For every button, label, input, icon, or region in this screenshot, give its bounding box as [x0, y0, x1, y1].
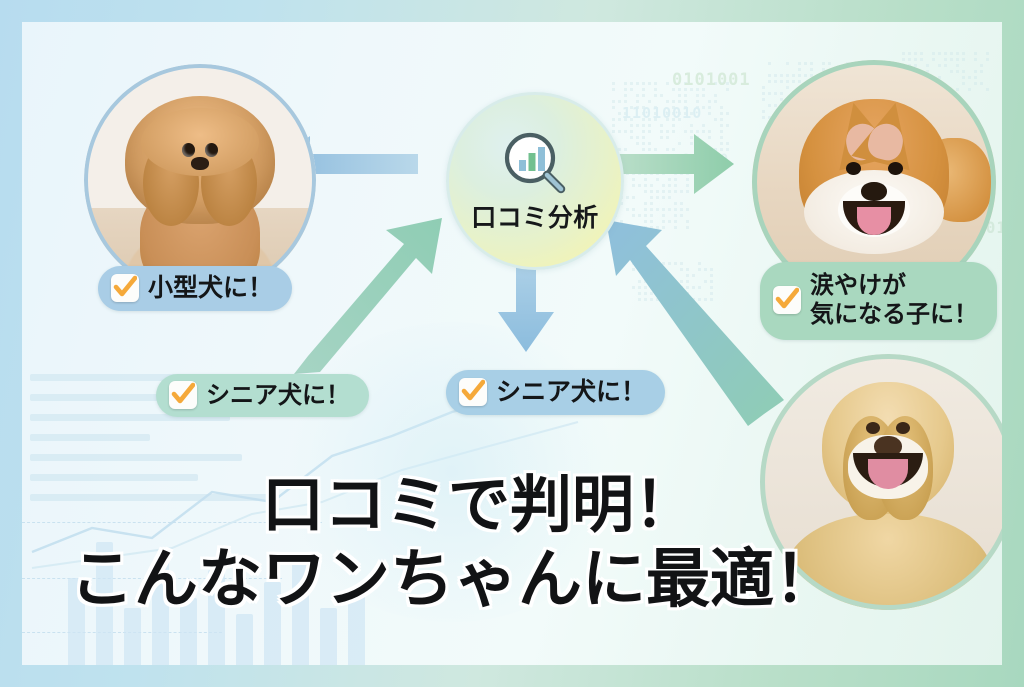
magnifier-bar-chart-icon — [499, 130, 571, 196]
hub-label: 口コミ分析 — [471, 198, 599, 234]
poodle-ring — [84, 64, 316, 296]
badge-label: 小型犬に！ — [148, 273, 273, 303]
headline-line-2-text: こんなワンちゃんに最適！ — [70, 543, 838, 617]
check-icon — [111, 274, 139, 302]
arrow-lowerleft-to-hub — [294, 218, 442, 374]
badge-label: シニア犬に！ — [206, 381, 350, 409]
badge-small-dog: 小型犬に！ — [98, 266, 292, 311]
badge-senior-left: シニア犬に！ — [156, 374, 369, 417]
check-icon — [459, 378, 487, 406]
check-icon — [169, 381, 197, 409]
decor-text-line — [30, 454, 242, 461]
badge-tear-stain: 涙やけが 気になる子に！ — [760, 262, 997, 340]
hub-analysis-circle: 口コミ分析 — [446, 92, 624, 270]
headline-line-2: こんなワンちゃんに最適！ — [70, 545, 838, 617]
decor-bar — [236, 614, 253, 665]
badge-label: 涙やけが 気になる子に！ — [810, 271, 978, 330]
binary-decor-1: 0101001 — [672, 70, 751, 90]
badge-senior-mid: シニア犬に！ — [446, 370, 665, 415]
toy-poodle-photo — [84, 64, 316, 296]
decor-dash-line — [22, 632, 222, 633]
headline-line-1-text: 口コミで判明！ — [262, 468, 696, 541]
infographic-root: 0101001 11010010 01101001 10010 — [0, 0, 1024, 687]
check-icon — [773, 286, 801, 314]
binary-decor-4: 10010 — [682, 152, 729, 168]
headline-line-1: 口コミで判明！ — [262, 470, 696, 539]
badge-label: シニア犬に！ — [496, 377, 646, 407]
decor-text-line — [30, 434, 150, 441]
binary-decor-2: 11010010 — [622, 104, 702, 122]
content-panel: 0101001 11010010 01101001 10010 — [22, 22, 1002, 665]
headline-block: 口コミで判明！ こんなワンちゃんに最適！ — [22, 470, 1002, 617]
